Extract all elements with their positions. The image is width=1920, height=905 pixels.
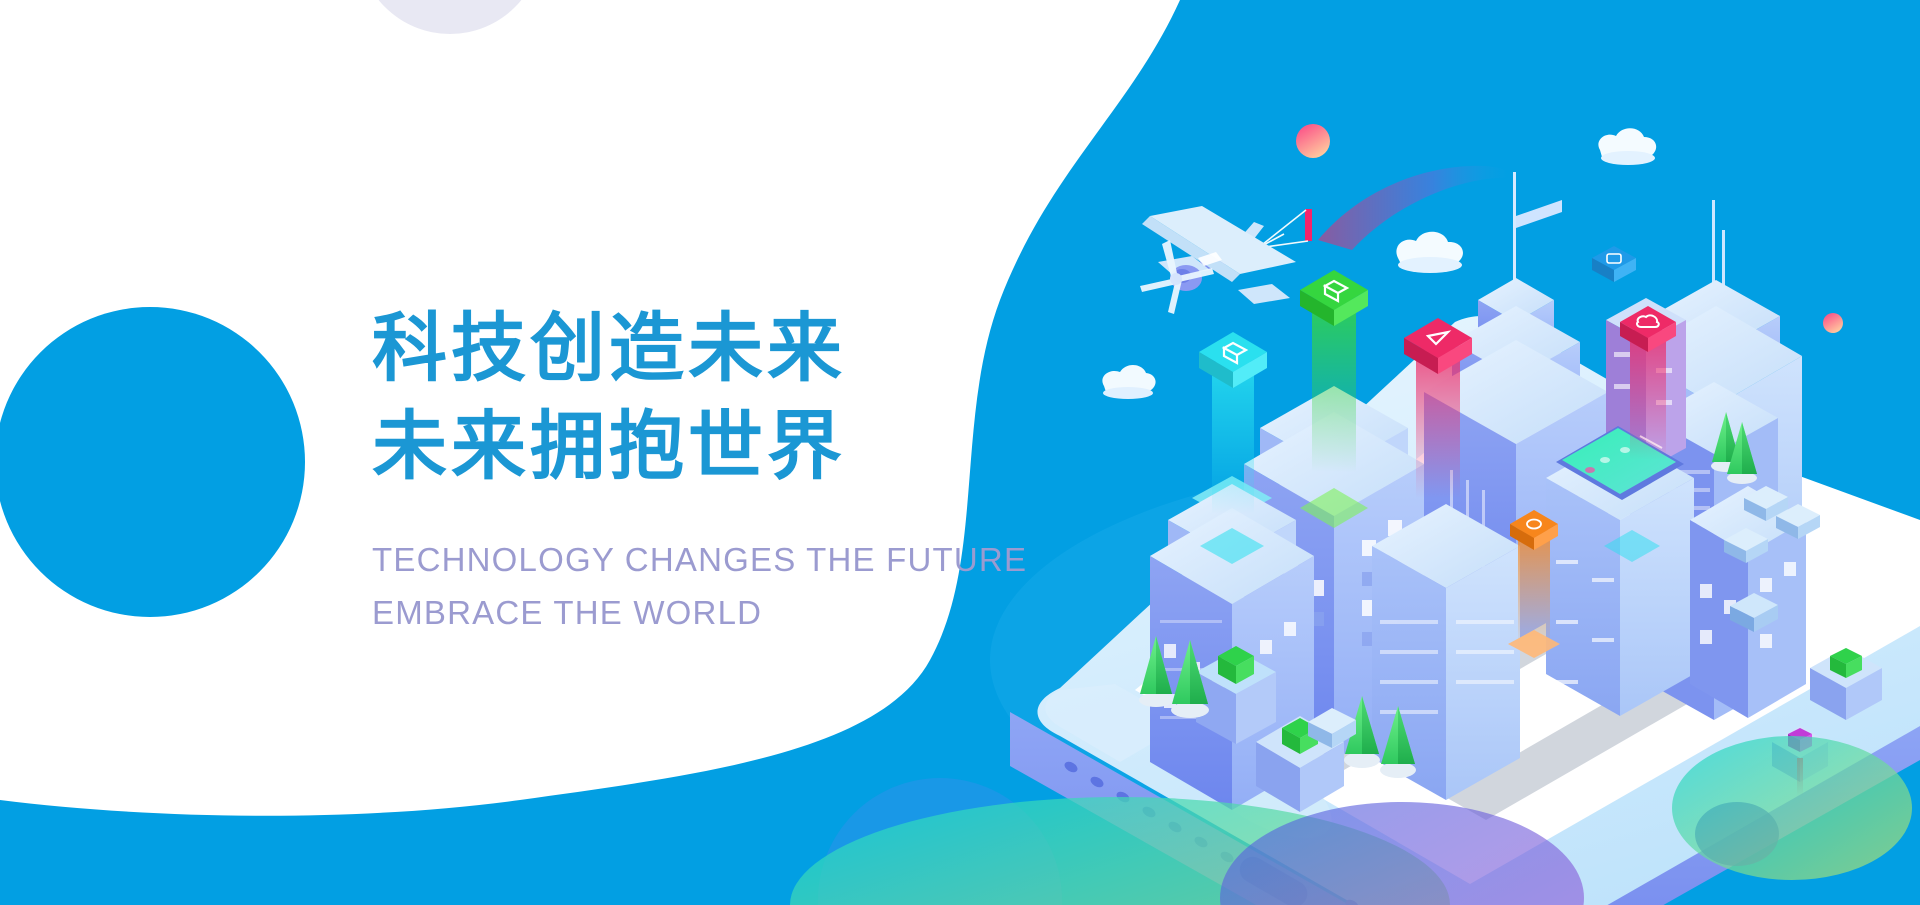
building-tablet-roof — [1546, 426, 1694, 716]
plane-banner — [1305, 209, 1312, 241]
subtitle-line-1: TECHNOLOGY CHANGES THE FUTURE — [372, 533, 1072, 586]
headline-line-2: 未来拥抱世界 — [372, 398, 1072, 496]
decor-right-teal-ellipse — [1672, 736, 1912, 880]
headline-line-1: 科技创造未来 — [372, 300, 1072, 398]
hero-banner: 科技创造未来 未来拥抱世界 TECHNOLOGY CHANGES THE FUT… — [0, 0, 1920, 905]
decor-left-circle — [0, 307, 305, 617]
sphere-pink-small — [1823, 313, 1843, 333]
subtitle-line-2: EMBRACE THE WORLD — [372, 586, 1072, 639]
banner-text-block: 科技创造未来 未来拥抱世界 TECHNOLOGY CHANGES THE FUT… — [372, 300, 1072, 640]
subtitle-block: TECHNOLOGY CHANGES THE FUTURE EMBRACE TH… — [372, 533, 1072, 640]
sphere-pink-large — [1296, 124, 1330, 158]
